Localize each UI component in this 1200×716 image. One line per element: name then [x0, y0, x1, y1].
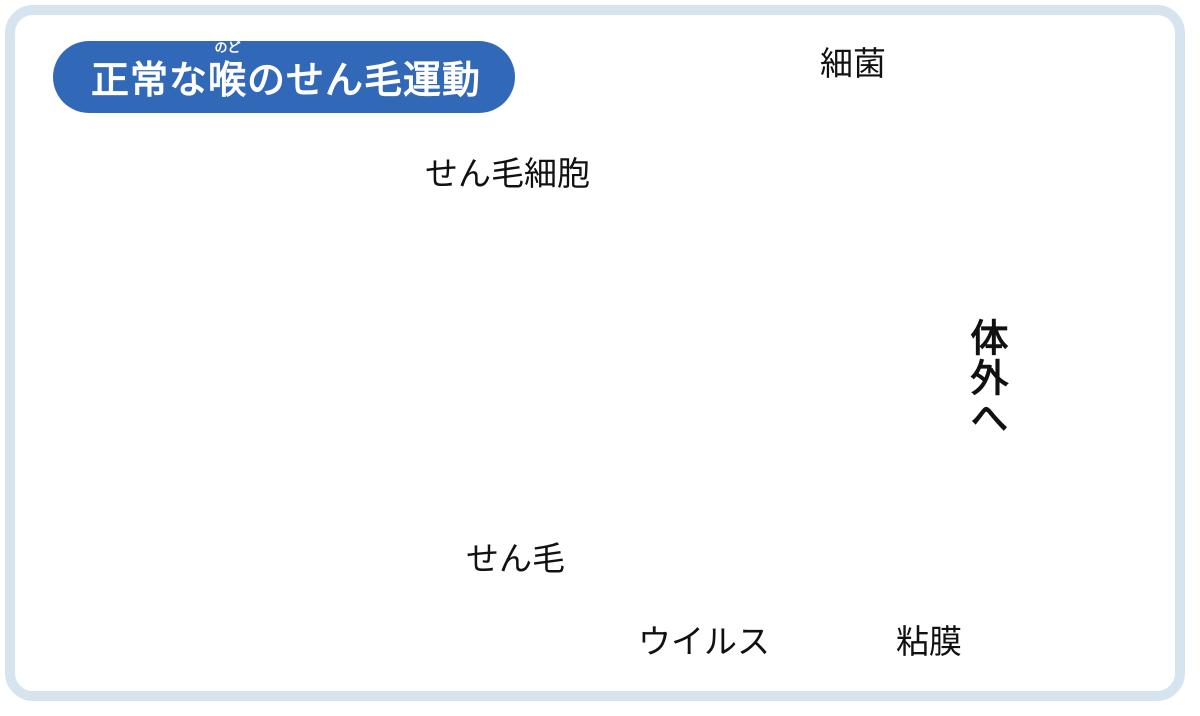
magnified-view-circle: [552, 90, 1180, 670]
mucus-yellow-layer: [989, 90, 1180, 668]
label-virus: ウイルス: [638, 625, 770, 658]
title-badge: 正常なのど喉のせん毛運動: [53, 41, 515, 113]
ruby-furigana: のど: [215, 42, 241, 55]
label-cilia: せん毛: [466, 542, 565, 575]
virus: [870, 461, 921, 511]
label-mucous-membrane: 粘膜: [896, 625, 962, 658]
illustration-canvas: 正常なのど喉のせん毛運動 せん毛細胞 せん毛 細菌 ウイルス 粘膜 体外へ: [0, 0, 1200, 716]
label-bacteria: 細菌: [820, 47, 886, 80]
page-title: 正常なのど喉のせん毛運動: [91, 61, 481, 99]
ruby-base-char: 喉: [208, 58, 247, 102]
head-anatomy-illustration: [96, 238, 372, 610]
virus: [840, 223, 891, 273]
virus: [743, 532, 794, 582]
title-part-before-ruby: 正常な: [91, 58, 208, 102]
virus: [737, 280, 788, 330]
label-to-outside-body: 体外へ: [965, 318, 1005, 438]
label-cilia-cell: せん毛細胞: [425, 157, 590, 190]
ruby-group: のど喉: [208, 61, 247, 99]
title-part-after-ruby: のせん毛運動: [247, 58, 481, 102]
